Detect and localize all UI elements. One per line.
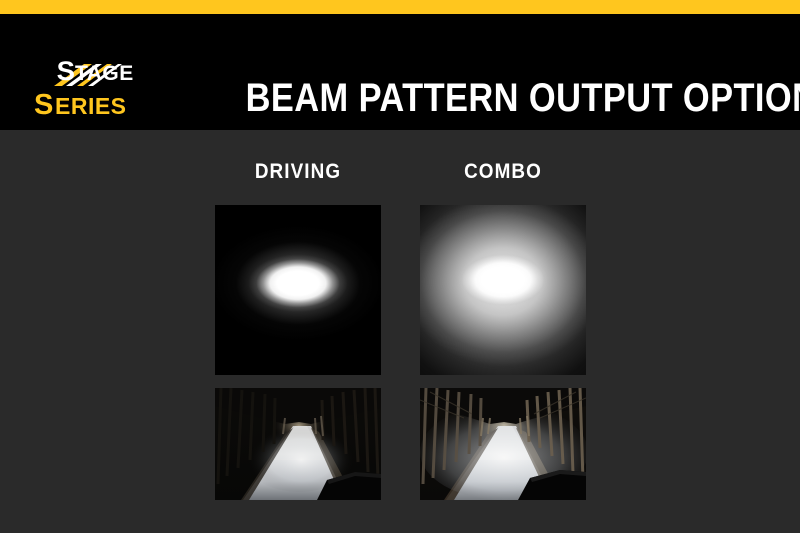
svg-text:TAGE: TAGE [75, 62, 134, 85]
driving-road-night-photo [215, 388, 381, 500]
poster: S TAGE S ERIES Stage Series BEAM PATTERN… [0, 0, 800, 533]
svg-text:S: S [34, 89, 54, 120]
driving-beam-glow [215, 205, 381, 375]
header-banner: S TAGE S ERIES Stage Series BEAM PATTERN… [0, 14, 800, 130]
page-title: BEAM PATTERN OUTPUT OPTIONS [246, 73, 745, 123]
driving-beam-pattern-image [215, 205, 381, 375]
combo-beam-glow [420, 205, 586, 375]
beam-option-label-driving: DRIVING [204, 160, 393, 184]
combo-road-night-photo [420, 388, 586, 500]
logo-text-line1: Stage [22, 120, 23, 121]
logo-text-line2: Series [22, 120, 23, 121]
beam-option-label-combo: COMBO [409, 160, 598, 184]
svg-text:ERIES: ERIES [55, 93, 127, 119]
stage-series-logo: S TAGE S ERIES Stage Series [22, 42, 187, 120]
accent-bar [0, 0, 800, 14]
beam-comparison-grid: DRIVING [0, 130, 800, 533]
combo-beam-pattern-image [420, 205, 586, 375]
svg-text:S: S [57, 55, 76, 86]
